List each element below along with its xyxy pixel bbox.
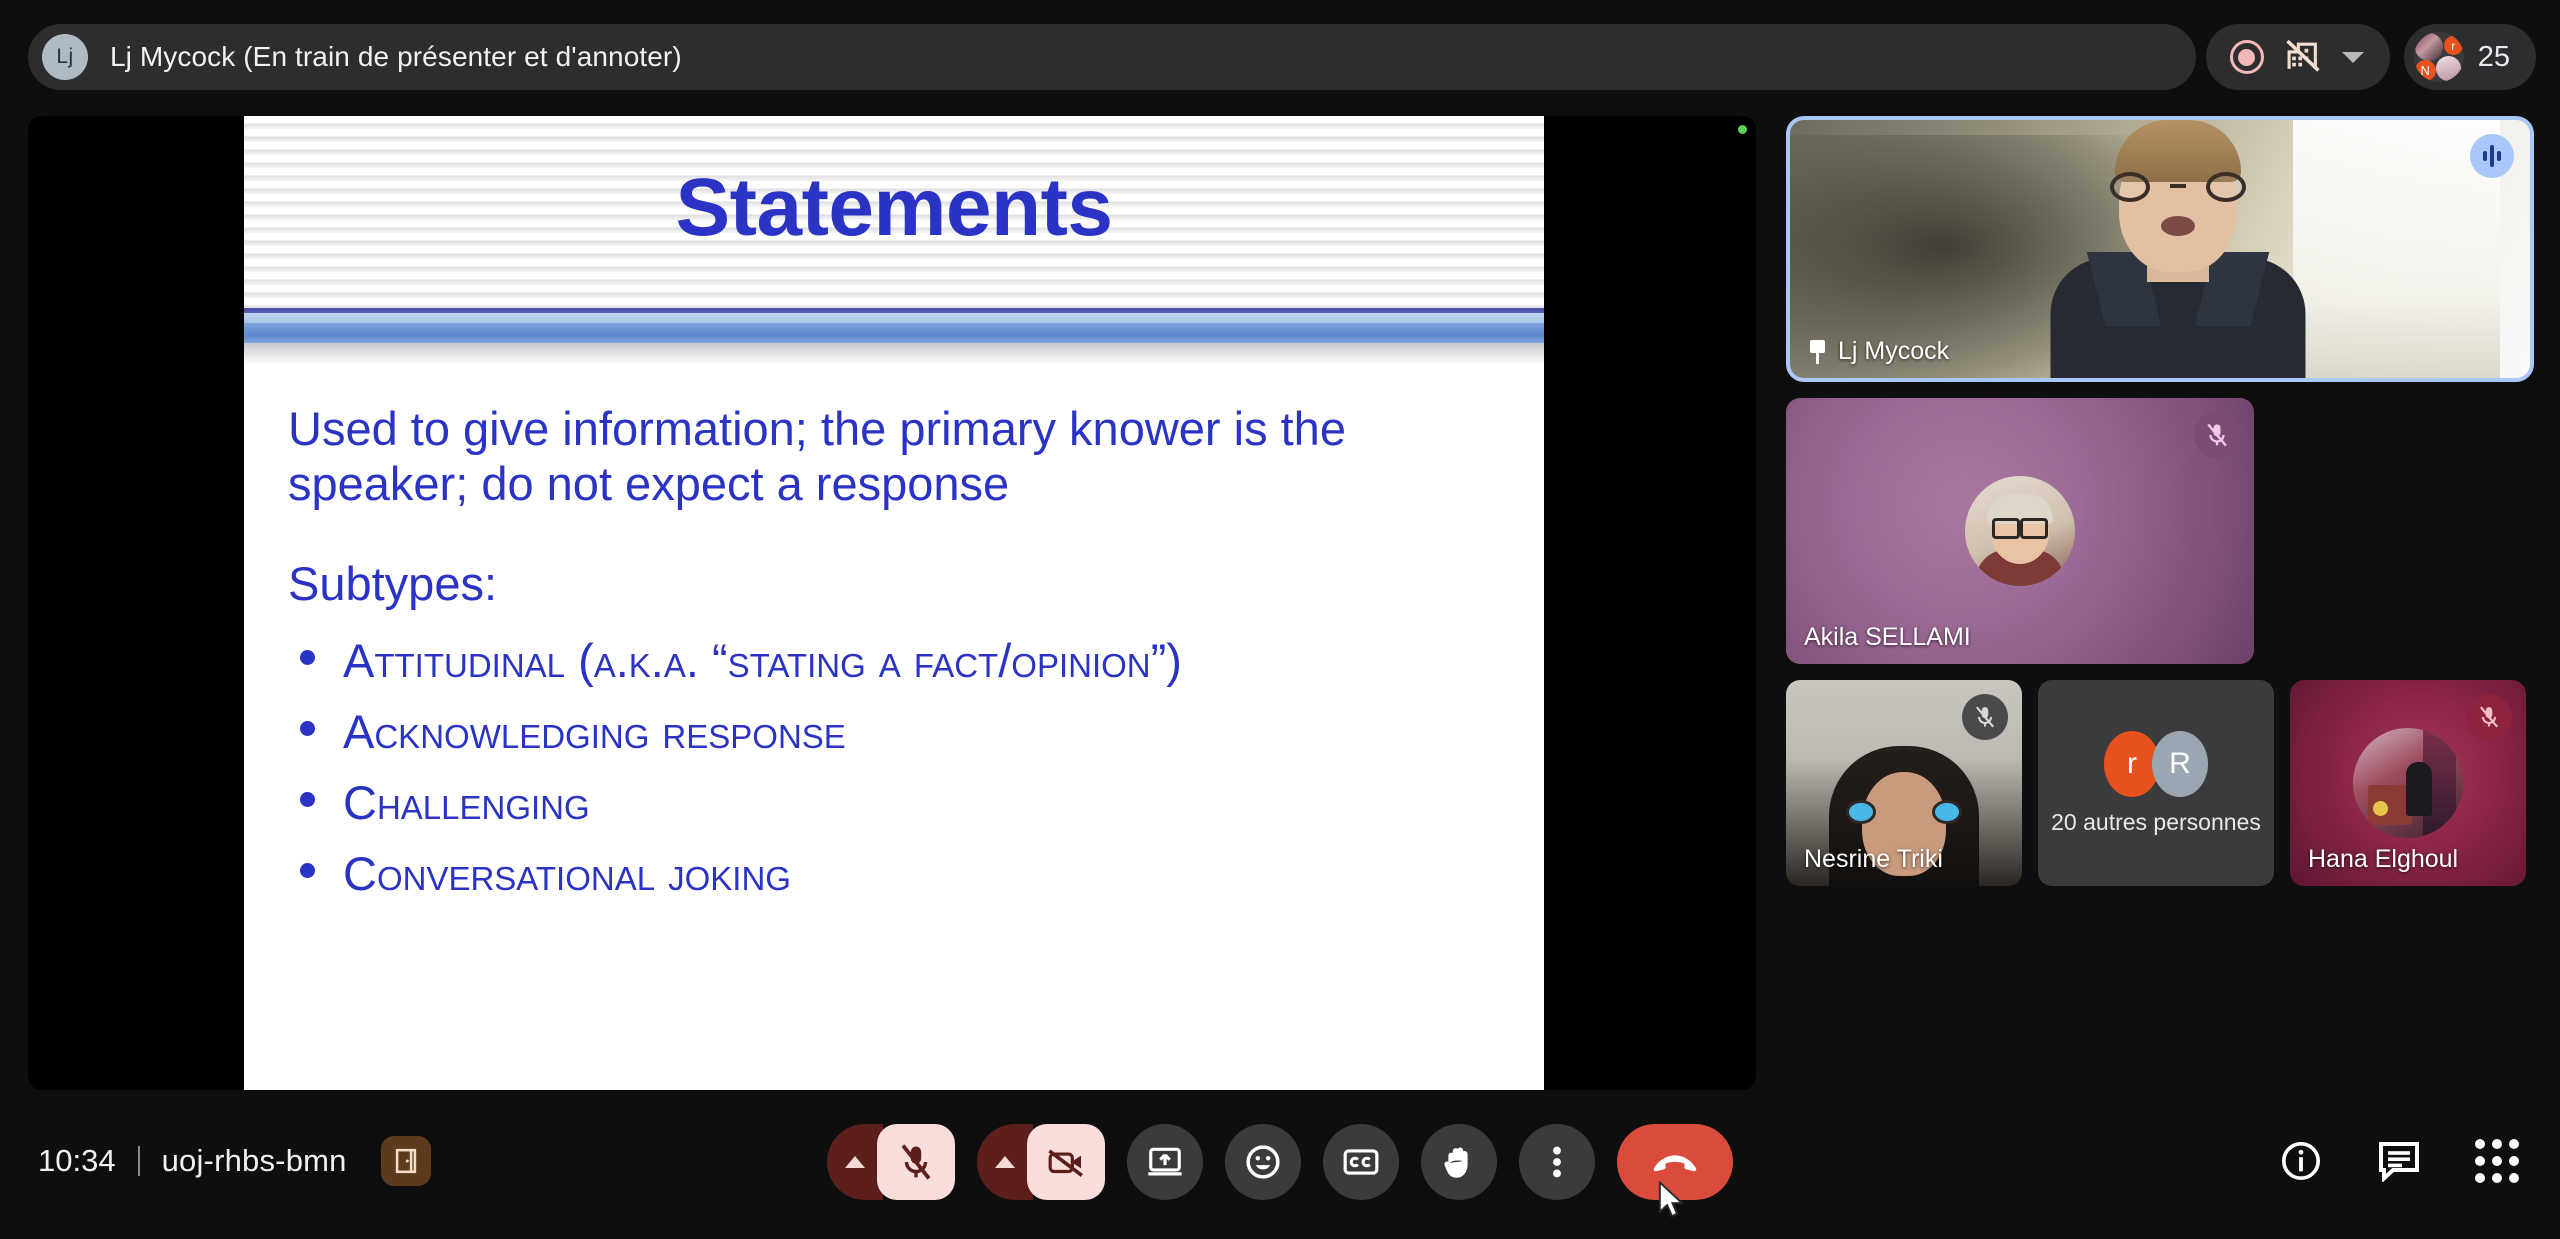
presenter-status-pill[interactable]: Lj Lj Mycock (En train de présenter et d… <box>28 24 2196 90</box>
tile-participant-name: Akila SELLAMI <box>1804 623 1971 652</box>
meeting-meta: 10:34 uoj-rhbs-bmn <box>38 1136 431 1186</box>
call-controls <box>827 1124 1733 1200</box>
mic-off-icon <box>1962 694 2008 740</box>
slide-bullet-item: Challenging <box>288 775 1500 830</box>
participant-avatar-cluster: r N <box>2414 32 2464 82</box>
bullet-text: Acknowledging response <box>343 704 846 759</box>
present-screen-icon[interactable] <box>1127 1124 1203 1200</box>
chevron-up-icon[interactable] <box>977 1124 1033 1200</box>
avatar <box>2353 728 2463 838</box>
presentation-slide: Statements Used to give information; the… <box>244 116 1544 1090</box>
video-tile-more-participants[interactable]: r R 20 autres personnes <box>2038 680 2274 886</box>
clock: 10:34 <box>38 1143 116 1179</box>
company-off-icon[interactable] <box>2284 38 2322 77</box>
cluster-avatar-3: N <box>2415 60 2436 81</box>
bullet-dot-icon <box>300 792 315 807</box>
more-avatar-initial: R <box>2152 731 2208 797</box>
shared-screen-stage[interactable]: Statements Used to give information; the… <box>28 116 1756 1090</box>
emoji-smile-icon[interactable] <box>1225 1124 1301 1200</box>
rail-bottom-row: Nesrine Triki r R 20 autres personnes <box>1786 680 2534 886</box>
raise-hand-icon[interactable] <box>1421 1124 1497 1200</box>
bottom-right-controls <box>2278 1138 2520 1184</box>
top-bar: Lj Lj Mycock (En train de présenter et d… <box>0 0 2560 112</box>
slide-bullet-item: Conversational joking <box>288 846 1500 901</box>
video-tile-lj-mycock[interactable]: Lj Mycock <box>1786 116 2534 382</box>
chevron-up-icon[interactable] <box>827 1124 883 1200</box>
tile-participant-name: Nesrine Triki <box>1804 845 1943 874</box>
cluster-avatar-2: r <box>2444 36 2463 55</box>
tile-name-row: Lj Mycock <box>1808 337 1949 366</box>
video-tile-hana-elghoul[interactable]: Hana Elghoul <box>2290 680 2526 886</box>
more-vertical-icon[interactable] <box>1519 1124 1595 1200</box>
record-dot-icon[interactable] <box>2230 40 2264 74</box>
chat-bubble-icon[interactable] <box>2376 1138 2422 1184</box>
microphone-control[interactable] <box>827 1124 955 1200</box>
bullet-dot-icon <box>300 650 315 665</box>
presenter-avatar: Lj <box>42 34 88 80</box>
audio-wave-icon <box>2470 134 2514 178</box>
slide-bullet-list: Attitudinal (a.k.a. “stating a fact/opin… <box>288 633 1500 901</box>
meeting-code: uoj-rhbs-bmn <box>162 1143 347 1179</box>
bullet-text: Challenging <box>343 775 590 830</box>
bullet-dot-icon <box>300 863 315 878</box>
tile-participant-name: Lj Mycock <box>1838 337 1949 366</box>
mic-off-icon[interactable] <box>877 1124 955 1200</box>
more-participants-label: 20 autres personnes <box>2051 809 2261 836</box>
mouse-cursor <box>1658 1181 1688 1219</box>
participants-pill[interactable]: r N 25 <box>2404 24 2536 90</box>
top-right-controls: r N 25 <box>2206 24 2536 90</box>
info-circle-icon[interactable] <box>2278 1138 2324 1184</box>
camera-control[interactable] <box>977 1124 1105 1200</box>
slide-bullet-item: Acknowledging response <box>288 704 1500 759</box>
google-meet-window: Lj Lj Mycock (En train de présenter et d… <box>0 0 2560 1239</box>
camera-off-icon[interactable] <box>1027 1124 1105 1200</box>
cluster-avatar-1 <box>2415 33 2443 61</box>
video-tile-akila-sellami[interactable]: Akila SELLAMI <box>1786 398 2254 664</box>
slide-subtypes-label: Subtypes: <box>288 556 1500 611</box>
divider <box>138 1146 140 1176</box>
participants-rail: Lj Mycock Akila SELLAMI <box>1786 116 2534 886</box>
cluster-avatar-4 <box>2436 56 2461 81</box>
participant-video-figure <box>2028 173 2328 378</box>
chevron-down-icon[interactable] <box>2342 52 2364 63</box>
closed-captions-icon[interactable] <box>1323 1124 1399 1200</box>
presenter-status-label: Lj Mycock (En train de présenter et d'an… <box>110 41 682 73</box>
pin-icon <box>1808 340 1827 364</box>
video-tile-nesrine-triki[interactable]: Nesrine Triki <box>1786 680 2022 886</box>
bullet-dot-icon <box>300 721 315 736</box>
slide-paragraph: Used to give information; the primary kn… <box>288 401 1500 512</box>
door-exit-icon[interactable] <box>381 1136 431 1186</box>
tile-participant-name: Hana Elghoul <box>2308 845 2458 874</box>
slide-bullet-item: Attitudinal (a.k.a. “stating a fact/opin… <box>288 633 1500 688</box>
participant-count: 25 <box>2478 41 2510 74</box>
recording-pill[interactable] <box>2206 24 2390 90</box>
bullet-text: Conversational joking <box>343 846 791 901</box>
slide-header: Statements <box>244 116 1544 308</box>
mic-off-icon <box>2466 694 2512 740</box>
avatar <box>1965 476 2075 586</box>
bullet-text: Attitudinal (a.k.a. “stating a fact/opin… <box>343 633 1182 688</box>
slide-divider <box>244 308 1544 365</box>
slide-body: Used to give information; the primary kn… <box>244 365 1544 901</box>
more-avatar-group: r R <box>2104 731 2208 797</box>
mic-off-icon <box>2194 412 2240 458</box>
slide-title: Statements <box>675 161 1112 255</box>
share-active-indicator <box>1738 125 1747 134</box>
apps-grid-icon[interactable] <box>2474 1138 2520 1184</box>
bottom-bar: 10:34 uoj-rhbs-bmn <box>0 1090 2560 1239</box>
